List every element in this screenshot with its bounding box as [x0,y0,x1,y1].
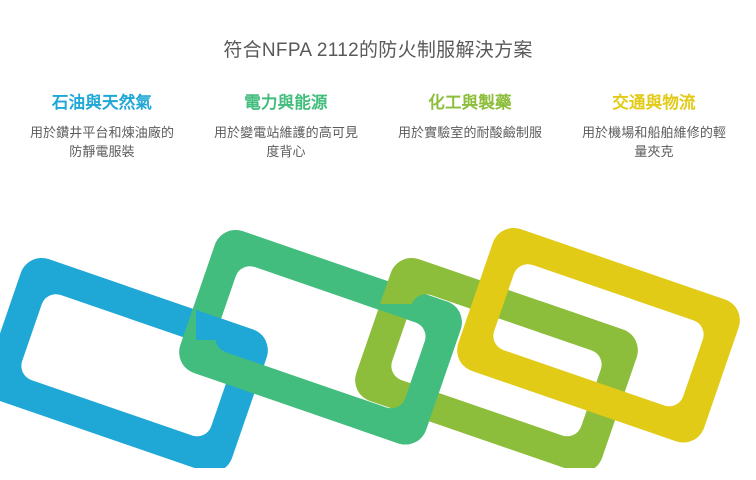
slide-canvas: 符合NFPA 2112的防火制服解決方案 石油與天然氣 用於鑽井平台和煉油廠的防… [0,0,756,480]
category-column-chemical-pharma: 化工與製藥 用於實驗室的耐酸鹼制服 [382,92,558,142]
category-heading-power-energy: 電力與能源 [198,92,374,114]
page-title: 符合NFPA 2112的防火制服解決方案 [0,38,756,64]
category-column-transport-logistics: 交通與物流 用於機場和船舶維修的輕量夾克 [566,92,742,161]
category-heading-oil-gas: 石油與天然氣 [14,92,190,114]
category-body-chemical-pharma: 用於實驗室的耐酸鹼制服 [395,123,545,142]
chain-links-illustration [0,208,756,468]
category-heading-chemical-pharma: 化工與製藥 [382,92,558,114]
category-columns: 石油與天然氣 用於鑽井平台和煉油廠的防靜電服裝 電力與能源 用於變電站維護的高可… [14,92,742,161]
category-body-power-energy: 用於變電站維護的高可見度背心 [211,123,361,161]
category-column-power-energy: 電力與能源 用於變電站維護的高可見度背心 [198,92,374,161]
category-column-oil-gas: 石油與天然氣 用於鑽井平台和煉油廠的防靜電服裝 [14,92,190,161]
category-heading-transport-logistics: 交通與物流 [566,92,742,114]
chain-graphic [0,208,756,468]
category-body-oil-gas: 用於鑽井平台和煉油廠的防靜電服裝 [27,123,177,161]
category-body-transport-logistics: 用於機場和船舶維修的輕量夾克 [579,123,729,161]
